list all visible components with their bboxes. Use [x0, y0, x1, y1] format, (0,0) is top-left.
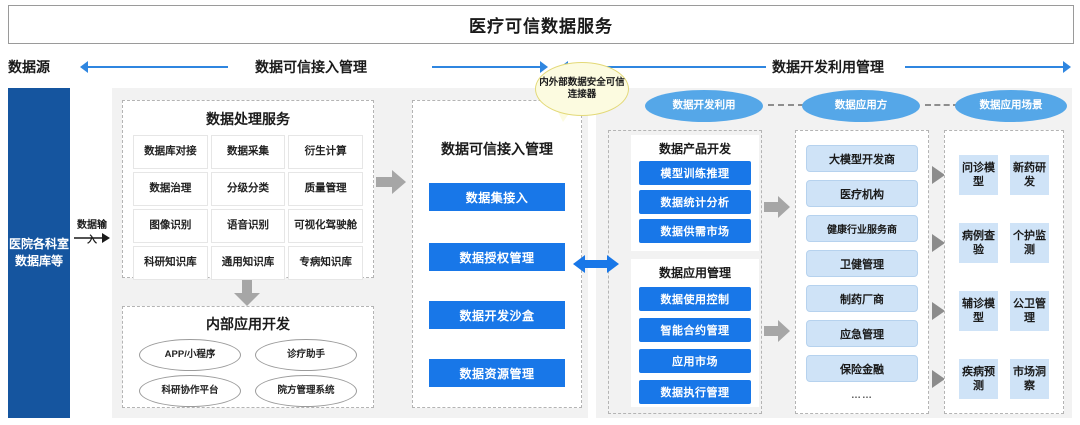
arrow-right-icon [764, 196, 790, 218]
dp-cell[interactable]: 通用知识库 [211, 246, 286, 280]
band-line-2 [432, 66, 540, 68]
product-dev-item-marketplace[interactable]: 数据供需市场 [639, 219, 751, 243]
diagram-canvas: 医疗可信数据服务 数据源 数据可信接入管理 数据开发利用管理 医院各科室数据库等… [0, 0, 1080, 425]
party-item[interactable]: 卫健管理 [806, 250, 918, 277]
scenario-grid: 问诊模型 新药研发 病例查验 个护监测 辅诊模型 公卫管理 疾病预测 市场洞察 [959, 155, 1049, 399]
dp-cell[interactable]: 专病知识库 [288, 246, 363, 280]
internal-app-item[interactable]: APP/小程序 [139, 339, 241, 371]
band-line-1 [88, 66, 228, 68]
data-dev-use-box: 数据产品开发 模型训练推理 数据统计分析 数据供需市场 数据应用管理 数据使用控… [608, 130, 762, 414]
dp-cell[interactable]: 语音识别 [211, 209, 286, 243]
access-button-authorization[interactable]: 数据授权管理 [429, 243, 565, 271]
internal-app-item[interactable]: 诊疗助手 [255, 339, 357, 371]
app-mgmt-item-execution[interactable]: 数据执行管理 [639, 380, 751, 404]
access-button-dataset-ingest[interactable]: 数据集接入 [429, 183, 565, 211]
page-title: 医疗可信数据服务 [8, 5, 1074, 44]
product-dev-title: 数据产品开发 [631, 140, 759, 157]
party-more-indicator: …… [806, 390, 918, 401]
data-source-label: 医院各科室数据库等 [8, 236, 70, 271]
cap-data-consumer[interactable]: 数据应用方 [802, 90, 920, 122]
internal-app-item[interactable]: 科研协作平台 [139, 375, 241, 407]
party-item[interactable]: 健康行业服务商 [806, 215, 918, 242]
internal-app-dev-items: APP/小程序 诊疗助手 科研协作平台 院方管理系统 [137, 339, 359, 407]
secure-connector-label: 内外部数据安全可信连接器 [536, 77, 628, 101]
access-management-panel: 数据处理服务 数据库对接 数据采集 衍生计算 数据治理 分级分类 质量管理 图像… [112, 88, 588, 418]
arrow-down-icon [232, 280, 262, 306]
data-processing-title: 数据处理服务 [123, 109, 373, 129]
scenario-box: 问诊模型 新药研发 病例查验 个护监测 辅诊模型 公卫管理 疾病预测 市场洞察 [944, 130, 1064, 414]
band-line-4 [905, 66, 1063, 68]
arrow-right-icon [764, 320, 790, 342]
band-label-dev-use-mgmt: 数据开发利用管理 [772, 52, 884, 82]
access-button-sandbox[interactable]: 数据开发沙盒 [429, 301, 565, 329]
dp-cell[interactable]: 分级分类 [211, 172, 286, 206]
party-item[interactable]: 大模型开发商 [806, 145, 918, 172]
data-processing-grid: 数据库对接 数据采集 衍生计算 数据治理 分级分类 质量管理 图像识别 语音识别… [133, 135, 363, 280]
scenario-item[interactable]: 市场洞察 [1010, 359, 1049, 399]
data-source-column: 医院各科室数据库等 [8, 88, 70, 418]
scenario-item[interactable]: 新药研发 [1010, 155, 1049, 195]
scenario-item[interactable]: 疾病预测 [959, 359, 998, 399]
app-mgmt-item-smart-contract[interactable]: 智能合约管理 [639, 318, 751, 342]
dp-cell[interactable]: 衍生计算 [288, 135, 363, 169]
dp-cell[interactable]: 可视化驾驶舱 [288, 209, 363, 243]
data-input-arrow [74, 212, 110, 252]
party-item[interactable]: 医疗机构 [806, 180, 918, 207]
product-dev-card: 数据产品开发 模型训练推理 数据统计分析 数据供需市场 [631, 135, 759, 251]
data-processing-box: 数据处理服务 数据库对接 数据采集 衍生计算 数据治理 分级分类 质量管理 图像… [122, 100, 374, 278]
product-dev-item-model-training[interactable]: 模型训练推理 [639, 161, 751, 185]
band-label-data-source: 数据源 [8, 52, 50, 82]
app-mgmt-title: 数据应用管理 [631, 264, 759, 281]
internal-app-item[interactable]: 院方管理系统 [255, 375, 357, 407]
cap-application-scenario[interactable]: 数据应用场景 [955, 90, 1067, 122]
internal-app-dev-box: 内部应用开发 APP/小程序 诊疗助手 科研协作平台 院方管理系统 [122, 306, 374, 408]
page-title-text: 医疗可信数据服务 [469, 12, 613, 37]
party-item[interactable]: 应急管理 [806, 320, 918, 347]
dp-cell[interactable]: 数据采集 [211, 135, 286, 169]
app-mgmt-card: 数据应用管理 数据使用控制 智能合约管理 应用市场 数据执行管理 [631, 259, 759, 407]
band-arrowhead-right-2 [1063, 61, 1071, 73]
cap-data-development-use[interactable]: 数据开发利用 [645, 90, 763, 122]
scenario-item[interactable]: 个护监测 [1010, 223, 1049, 263]
scenario-item[interactable]: 公卫管理 [1010, 291, 1049, 331]
bidirectional-arrow-icon [573, 252, 619, 281]
dp-cell[interactable]: 数据库对接 [133, 135, 208, 169]
dp-cell[interactable]: 科研知识库 [133, 246, 208, 280]
secure-connector-callout: 内外部数据安全可信连接器 [535, 62, 629, 116]
dp-cell[interactable]: 图像识别 [133, 209, 208, 243]
access-button-resource-mgmt[interactable]: 数据资源管理 [429, 359, 565, 387]
app-mgmt-item-app-market[interactable]: 应用市场 [639, 349, 751, 373]
dp-cell[interactable]: 数据治理 [133, 172, 208, 206]
band-label-access-mgmt: 数据可信接入管理 [255, 52, 367, 82]
product-dev-item-statistics[interactable]: 数据统计分析 [639, 190, 751, 214]
app-mgmt-item-usage-control[interactable]: 数据使用控制 [639, 287, 751, 311]
data-consumer-box: 大模型开发商 医疗机构 健康行业服务商 卫健管理 制药厂商 应急管理 保险金融 … [795, 130, 929, 414]
internal-app-dev-title: 内部应用开发 [123, 314, 373, 334]
party-item[interactable]: 制药厂商 [806, 285, 918, 312]
scenario-item[interactable]: 辅诊模型 [959, 291, 998, 331]
trusted-access-box: 数据可信接入管理 数据集接入 数据授权管理 数据开发沙盒 数据资源管理 [412, 100, 582, 408]
party-item[interactable]: 保险金融 [806, 355, 918, 382]
party-list: 大模型开发商 医疗机构 健康行业服务商 卫健管理 制药厂商 应急管理 保险金融 … [806, 145, 918, 401]
dp-cell[interactable]: 质量管理 [288, 172, 363, 206]
scenario-item[interactable]: 问诊模型 [959, 155, 998, 195]
arrow-right-icon [376, 170, 406, 194]
scenario-item[interactable]: 病例查验 [959, 223, 998, 263]
band-arrowhead-left-1 [80, 61, 88, 73]
trusted-access-title: 数据可信接入管理 [413, 139, 581, 159]
